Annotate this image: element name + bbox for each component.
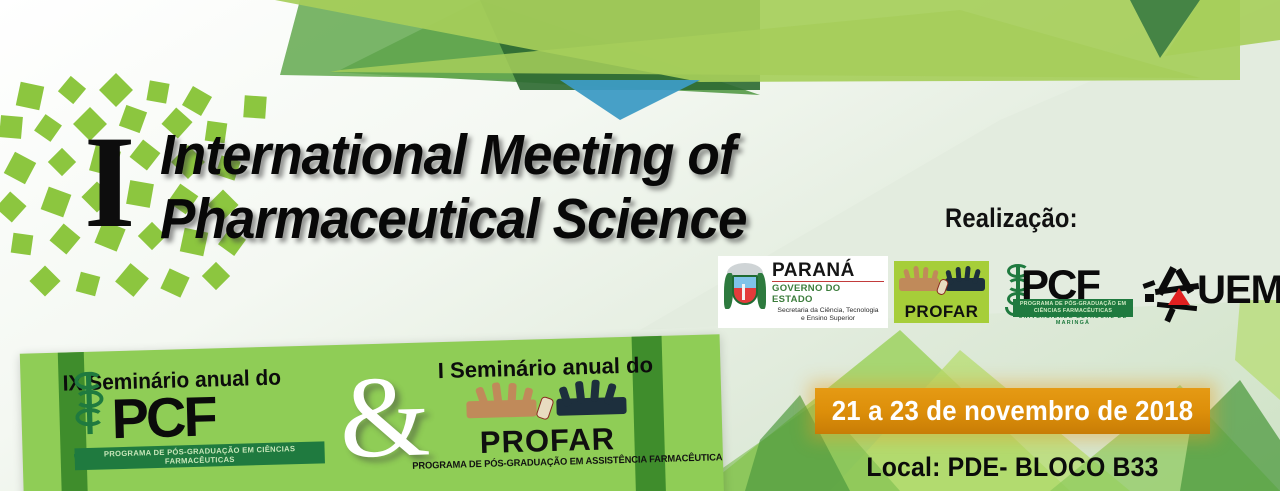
profar-logo-word: PROFAR (905, 303, 979, 320)
parana-department-line-1: Secretaria da Ciência, Tecnologia (772, 307, 884, 315)
pcf-seminar-block: IX Seminário anual do PCF PROGRAMA DE PÓ… (62, 363, 334, 451)
event-date: 21 a 23 de novembro de 2018 (832, 395, 1194, 427)
event-location: Local: PDE- BLOCO B33 (831, 452, 1194, 483)
profar-logo: PROFAR (894, 261, 989, 323)
realizacao-label: Realização: (945, 203, 1078, 234)
hands-icon (899, 267, 985, 303)
parana-crest-icon (722, 263, 768, 321)
uem-mark-icon (1141, 264, 1205, 320)
uem-logo: UEM (1141, 264, 1280, 320)
title-numeral: I (84, 116, 135, 248)
profar-seminar-block: I Seminário anual do PROFAR PROGRAMA DE … (405, 351, 688, 472)
uem-logo-word: UEM (1197, 270, 1280, 310)
parana-subtitle: GOVERNO DO ESTADO (772, 281, 884, 305)
parana-title: PARANÁ (772, 261, 884, 280)
parana-department-line-2: e Ensino Superior (772, 315, 884, 323)
sponsor-logo-row: PARANÁ GOVERNO DO ESTADO Secretaria da C… (718, 256, 1280, 328)
pcf-logo: PCF PROGRAMA DE PÓS-GRADUAÇÃO EM CIÊNCIA… (995, 258, 1135, 326)
title-line-2: Pharmaceutical Science (160, 192, 811, 248)
profar-seminar-heading: I Seminário anual do (405, 351, 686, 385)
pcf-logo-university-bar: UNIVERSIDADE ESTADUAL DE MARINGÁ (1013, 314, 1133, 326)
event-banner: I International Meeting of Pharmaceutica… (0, 0, 1280, 491)
event-date-banner: 21 a 23 de novembro de 2018 (815, 388, 1210, 434)
parana-logo: PARANÁ GOVERNO DO ESTADO Secretaria da C… (718, 256, 888, 328)
seminar-panel-content: IX Seminário anual do PCF PROGRAMA DE PÓ… (20, 334, 724, 491)
pcf-seminar-word: PCF (111, 388, 216, 447)
page-title: International Meeting of Pharmaceutical … (160, 128, 860, 248)
title-line-1: International Meeting of (160, 128, 811, 184)
hands-icon-large (466, 381, 627, 429)
